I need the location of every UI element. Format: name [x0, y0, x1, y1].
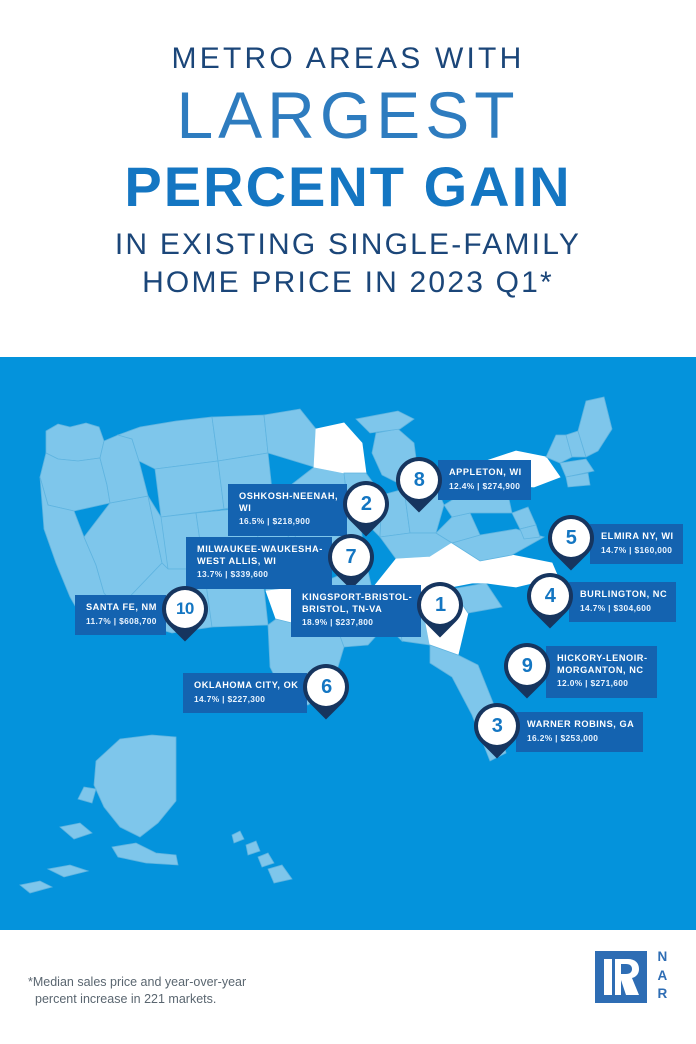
marker-stat: 12.4% | $274,900 — [449, 481, 522, 493]
logo-letter-a: A — [657, 967, 668, 986]
r-stem-shape — [604, 959, 612, 995]
marker-label-box: APPLETON, WI 12.4% | $274,900 — [438, 460, 531, 500]
logo-letter-r: R — [657, 985, 668, 1004]
marker-label-box: KINGSPORT-BRISTOL- BRISTOL, TN-VA 18.9% … — [291, 585, 421, 637]
marker-hickory-lenoir-morganton[interactable]: 9 HICKORY-LENOIR- MORGANTON, NC 12.0% | … — [504, 643, 657, 701]
marker-label-box: SANTA FE, NM 11.7% | $608,700 — [75, 595, 166, 635]
marker-stat: 11.7% | $608,700 — [86, 616, 157, 628]
marker-city-line2: WEST ALLIS, WI — [197, 556, 323, 568]
title-line-5: HOME PRICE IN 2023 Q1* — [0, 264, 696, 302]
marker-elmira[interactable]: 5 ELMIRA NY, WI 14.7% | $160,000 — [548, 515, 683, 573]
nar-logo: N A R — [595, 948, 668, 1004]
marker-label-box: ELMIRA NY, WI 14.7% | $160,000 — [590, 524, 683, 564]
marker-oklahoma-city[interactable]: OKLAHOMA CITY, OK 14.7% | $227,300 6 — [183, 664, 349, 722]
pin-rank-number: 7 — [332, 538, 370, 576]
marker-city-line1: KINGSPORT-BRISTOL- — [302, 592, 412, 604]
marker-city-line1: SANTA FE, NM — [86, 602, 157, 614]
marker-stat: 14.7% | $227,300 — [194, 694, 298, 706]
title-line-3-percent-gain: PERCENT GAIN — [0, 156, 696, 218]
marker-stat: 12.0% | $271,600 — [557, 678, 648, 690]
marker-oshkosh-neenah[interactable]: OSHKOSH-NEENAH, WI 16.5% | $218,900 2 — [228, 481, 389, 539]
marker-stat: 13.7% | $339,600 — [197, 569, 323, 581]
marker-city-line1: ELMIRA NY, WI — [601, 531, 674, 543]
realtor-r-icon — [595, 951, 647, 1003]
footnote-line-2: percent increase in 221 markets. — [28, 991, 246, 1008]
map-pin-5[interactable]: 5 — [548, 515, 594, 573]
marker-label-box: OKLAHOMA CITY, OK 14.7% | $227,300 — [183, 673, 307, 713]
footnote: *Median sales price and year-over-year p… — [28, 974, 246, 1008]
title-line-4: IN EXISTING SINGLE-FAMILY — [0, 226, 696, 264]
pin-rank-number: 8 — [400, 461, 438, 499]
marker-city-line1: APPLETON, WI — [449, 467, 522, 479]
marker-city-line2: BRISTOL, TN-VA — [302, 604, 412, 616]
marker-stat: 14.7% | $160,000 — [601, 545, 674, 557]
marker-city-line1: HICKORY-LENOIR- — [557, 653, 648, 665]
map-pin-1[interactable]: 1 — [417, 582, 463, 640]
marker-warner-robins[interactable]: 3 WARNER ROBINS, GA 16.2% | $253,000 — [474, 703, 643, 761]
nar-logo-letters: N A R — [657, 948, 668, 1004]
map-pin-3[interactable]: 3 — [474, 703, 520, 761]
marker-city-line2: MORGANTON, NC — [557, 665, 648, 677]
marker-city-line1: WARNER ROBINS, GA — [527, 719, 634, 731]
marker-stat: 14.7% | $304,600 — [580, 603, 667, 615]
marker-city-line1: BURLINGTON, NC — [580, 589, 667, 601]
map-pin-6[interactable]: 6 — [303, 664, 349, 722]
map-pin-8[interactable]: 8 — [396, 457, 442, 515]
marker-city-line2: WI — [239, 503, 338, 515]
marker-label-box: HICKORY-LENOIR- MORGANTON, NC 12.0% | $2… — [546, 646, 657, 698]
marker-santa-fe[interactable]: SANTA FE, NM 11.7% | $608,700 10 — [75, 586, 208, 644]
map-pin-2[interactable]: 2 — [343, 481, 389, 539]
footnote-line-1: *Median sales price and year-over-year — [28, 975, 246, 989]
marker-city-line1: OSHKOSH-NEENAH, — [239, 491, 338, 503]
logo-letter-n: N — [657, 948, 668, 967]
marker-label-box: BURLINGTON, NC 14.7% | $304,600 — [569, 582, 676, 622]
marker-label-box: WARNER ROBINS, GA 16.2% | $253,000 — [516, 712, 643, 752]
marker-stat: 16.5% | $218,900 — [239, 516, 338, 528]
us-map-panel: OSHKOSH-NEENAH, WI 16.5% | $218,900 2 8 … — [0, 357, 696, 930]
marker-kingsport-bristol[interactable]: KINGSPORT-BRISTOL- BRISTOL, TN-VA 18.9% … — [291, 582, 463, 640]
marker-label-box: OSHKOSH-NEENAH, WI 16.5% | $218,900 — [228, 484, 347, 536]
map-pin-9[interactable]: 9 — [504, 643, 550, 701]
marker-appleton[interactable]: 8 APPLETON, WI 12.4% | $274,900 — [396, 457, 531, 515]
map-pin-10[interactable]: 10 — [162, 586, 208, 644]
pin-rank-number: 5 — [552, 519, 590, 557]
map-pin-4[interactable]: 4 — [527, 573, 573, 631]
marker-city-line1: MILWAUKEE-WAUKESHA- — [197, 544, 323, 556]
pin-rank-number: 4 — [531, 577, 569, 615]
title-block: METRO AREAS WITH LARGEST PERCENT GAIN IN… — [0, 0, 696, 357]
marker-city-line1: OKLAHOMA CITY, OK — [194, 680, 298, 692]
marker-burlington[interactable]: 4 BURLINGTON, NC 14.7% | $304,600 — [527, 573, 676, 631]
r-letter-shape — [615, 959, 639, 995]
pin-rank-number: 10 — [166, 590, 204, 628]
marker-stat: 16.2% | $253,000 — [527, 733, 634, 745]
pin-rank-number: 9 — [508, 647, 546, 685]
title-line-2-largest: LARGEST — [0, 76, 696, 154]
marker-stat: 18.9% | $237,800 — [302, 617, 412, 629]
infographic-page: METRO AREAS WITH LARGEST PERCENT GAIN IN… — [0, 0, 696, 1044]
pin-rank-number: 2 — [347, 485, 385, 523]
footer: *Median sales price and year-over-year p… — [0, 930, 696, 1044]
pin-rank-number: 3 — [478, 707, 516, 745]
title-line-1: METRO AREAS WITH — [0, 40, 696, 78]
